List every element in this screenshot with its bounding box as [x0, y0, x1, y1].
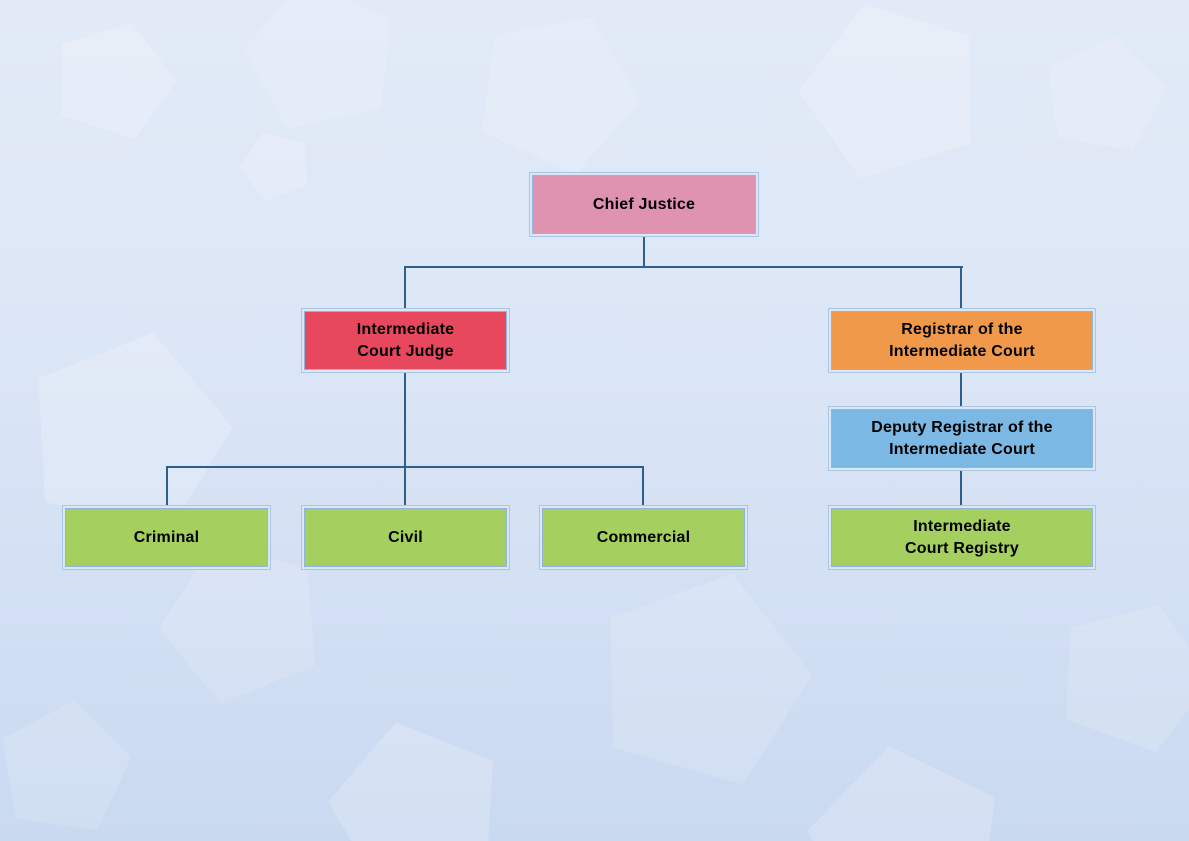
node-text: Criminal — [134, 527, 200, 549]
connector-commercial-drop — [642, 466, 644, 506]
background-pentagon — [232, 0, 408, 134]
node-registrar-of-the-intermediate-court[interactable]: Registrar of theIntermediate Court — [828, 308, 1096, 373]
node-label-intermediate-court-judge: IntermediateCourt Judge — [304, 311, 507, 370]
node-intermediate-court-registry[interactable]: IntermediateCourt Registry — [828, 505, 1096, 570]
connector-icj-drop — [404, 266, 406, 309]
node-text: Chief Justice — [593, 194, 695, 216]
background-pentagon — [796, 730, 1014, 841]
node-text: Civil — [388, 527, 423, 549]
node-label-criminal: Criminal — [65, 508, 268, 567]
node-label-commercial: Commercial — [542, 508, 745, 567]
org-chart-canvas: Chief JusticeIntermediateCourt JudgeRegi… — [0, 0, 1189, 841]
background-pentagon — [231, 120, 319, 205]
node-label-chief-justice: Chief Justice — [532, 175, 756, 234]
connector-criminal-drop — [166, 466, 168, 506]
node-label-intermediate-court-registry: IntermediateCourt Registry — [831, 508, 1093, 567]
node-chief-justice[interactable]: Chief Justice — [529, 172, 759, 237]
connector-reg-drop — [960, 266, 962, 309]
background-pentagon — [1041, 579, 1189, 762]
node-civil[interactable]: Civil — [301, 505, 510, 570]
node-text: IntermediateCourt Judge — [357, 319, 455, 362]
node-label-registrar-of-the-intermediate-court: Registrar of theIntermediate Court — [831, 311, 1093, 370]
connector-cj-stem — [643, 237, 645, 267]
connector-cj-bus — [404, 266, 963, 268]
node-text: IntermediateCourt Registry — [905, 516, 1019, 559]
node-commercial[interactable]: Commercial — [539, 505, 748, 570]
background-pentagon — [577, 545, 834, 795]
background-pentagon — [1036, 25, 1173, 154]
node-deputy-registrar-of-the-intermediate-court[interactable]: Deputy Registrar of theIntermediate Cour… — [828, 406, 1096, 471]
connector-level3-bus — [166, 466, 644, 468]
background-pentagon — [313, 702, 517, 841]
connector-icj-stem — [404, 373, 406, 506]
node-text: Registrar of theIntermediate Court — [889, 319, 1035, 362]
node-intermediate-court-judge[interactable]: IntermediateCourt Judge — [301, 308, 510, 373]
connector-reg-to-dep — [960, 373, 962, 407]
node-criminal[interactable]: Criminal — [62, 505, 271, 570]
node-text: Deputy Registrar of theIntermediate Cour… — [871, 417, 1053, 460]
background-pentagon — [41, 4, 189, 146]
node-label-civil: Civil — [304, 508, 507, 567]
node-label-deputy-registrar-of-the-intermediate-court: Deputy Registrar of theIntermediate Cour… — [831, 409, 1093, 468]
background-pentagon — [456, 0, 664, 187]
node-text: Commercial — [597, 527, 691, 549]
background-pentagon — [779, 0, 1001, 189]
connector-dep-to-registry — [960, 471, 962, 506]
background-pentagon — [0, 692, 138, 834]
